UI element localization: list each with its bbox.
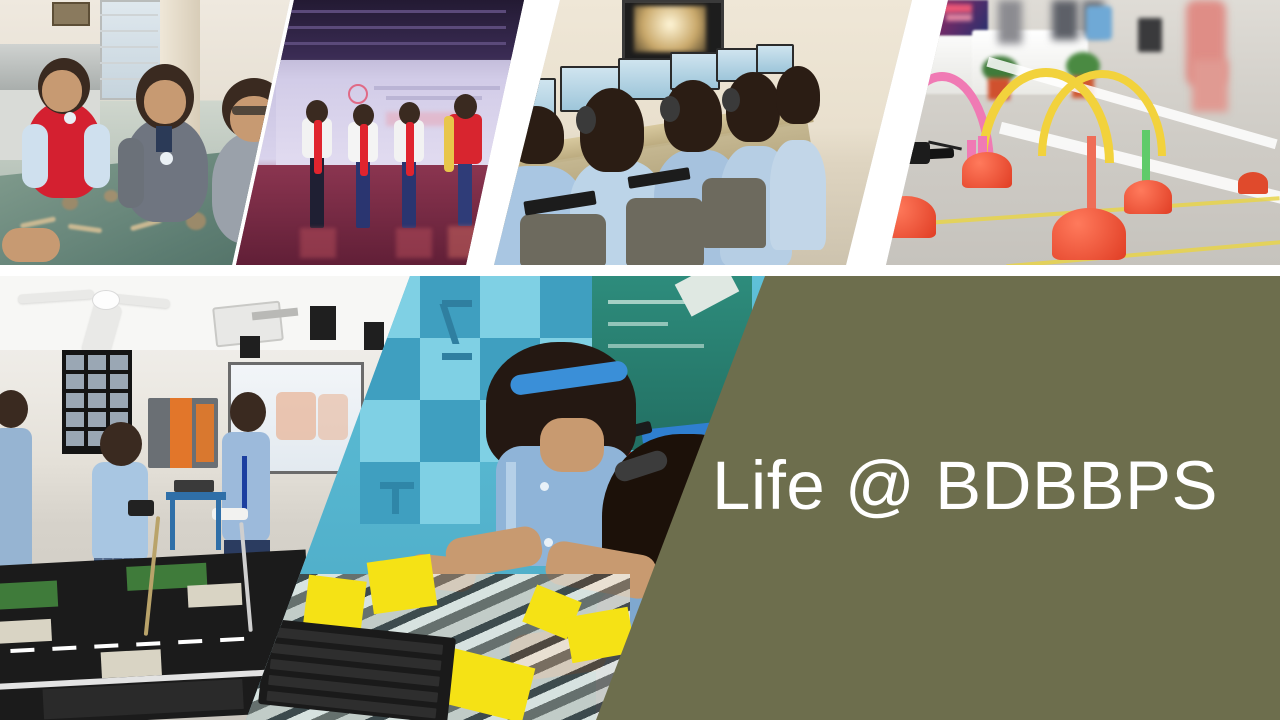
bottom-photo-row: Life @ BDBBPS <box>0 276 1280 720</box>
photo-computer-lab[interactable] <box>494 0 914 265</box>
photo-drone-obstacle-course[interactable] <box>886 0 1280 265</box>
speaker-icon <box>364 322 384 350</box>
speaker-icon <box>240 336 260 358</box>
speaker-icon <box>310 306 336 340</box>
life-at-bdbbps-banner: Life @ BDBBPS <box>0 0 1280 720</box>
drone-obstacle-image <box>886 0 1280 265</box>
page-title: Life @ BDBBPS <box>712 451 1218 520</box>
top-photo-row <box>0 0 1280 265</box>
row-divider <box>0 265 1280 276</box>
computer-lab-image <box>494 0 914 265</box>
